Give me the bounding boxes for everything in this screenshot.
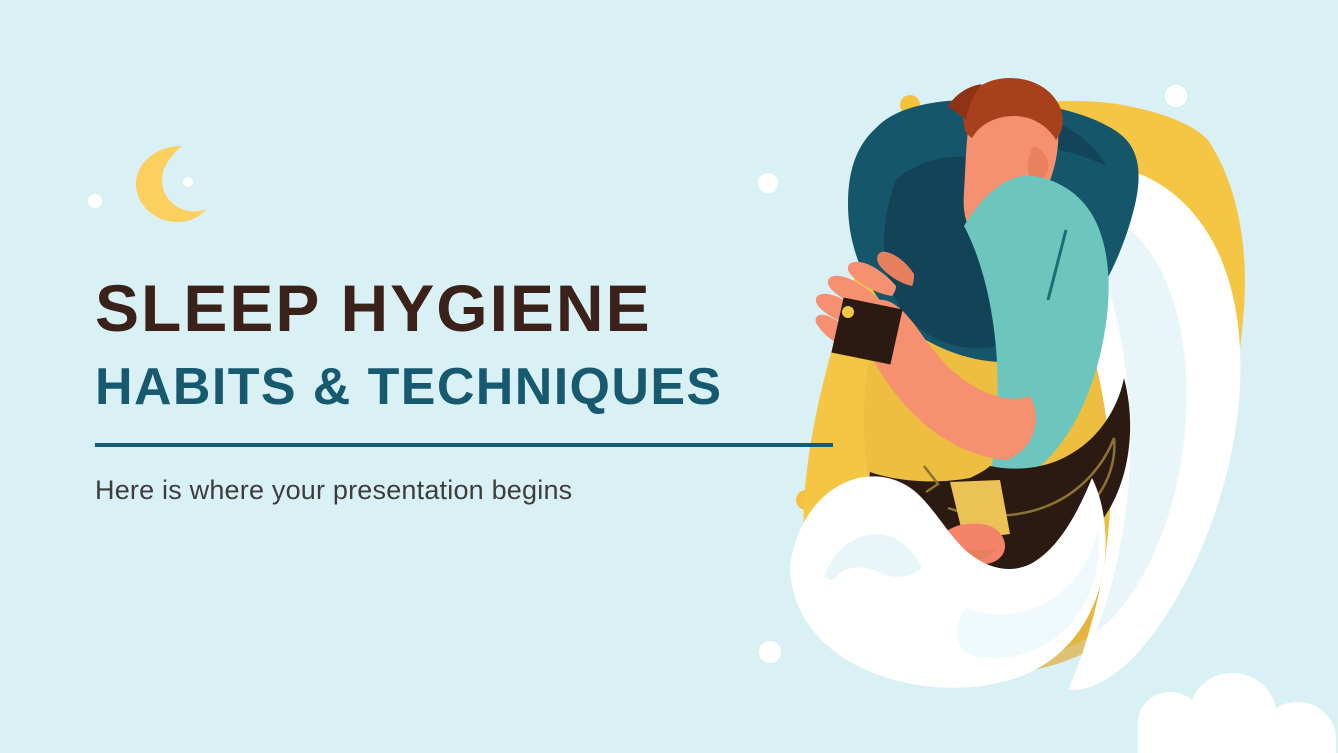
title-divider <box>95 443 833 447</box>
title-text-block: SLEEP HYGIENE HABITS & TECHNIQUES Here i… <box>95 272 840 507</box>
page-title: SLEEP HYGIENE <box>95 272 840 344</box>
star-dot-left <box>88 194 102 208</box>
moon-decoration-group <box>120 138 210 228</box>
cloud-bottom-right <box>1138 673 1336 753</box>
page-tagline: Here is where your presentation begins <box>95 473 840 507</box>
page-subtitle-heading: HABITS & TECHNIQUES <box>95 356 840 418</box>
crescent-moon-icon <box>120 138 210 228</box>
phone-camera-dot <box>842 306 854 318</box>
star-dot-inner <box>183 177 193 187</box>
slide-canvas: SLEEP HYGIENE HABITS & TECHNIQUES Here i… <box>0 0 1338 753</box>
